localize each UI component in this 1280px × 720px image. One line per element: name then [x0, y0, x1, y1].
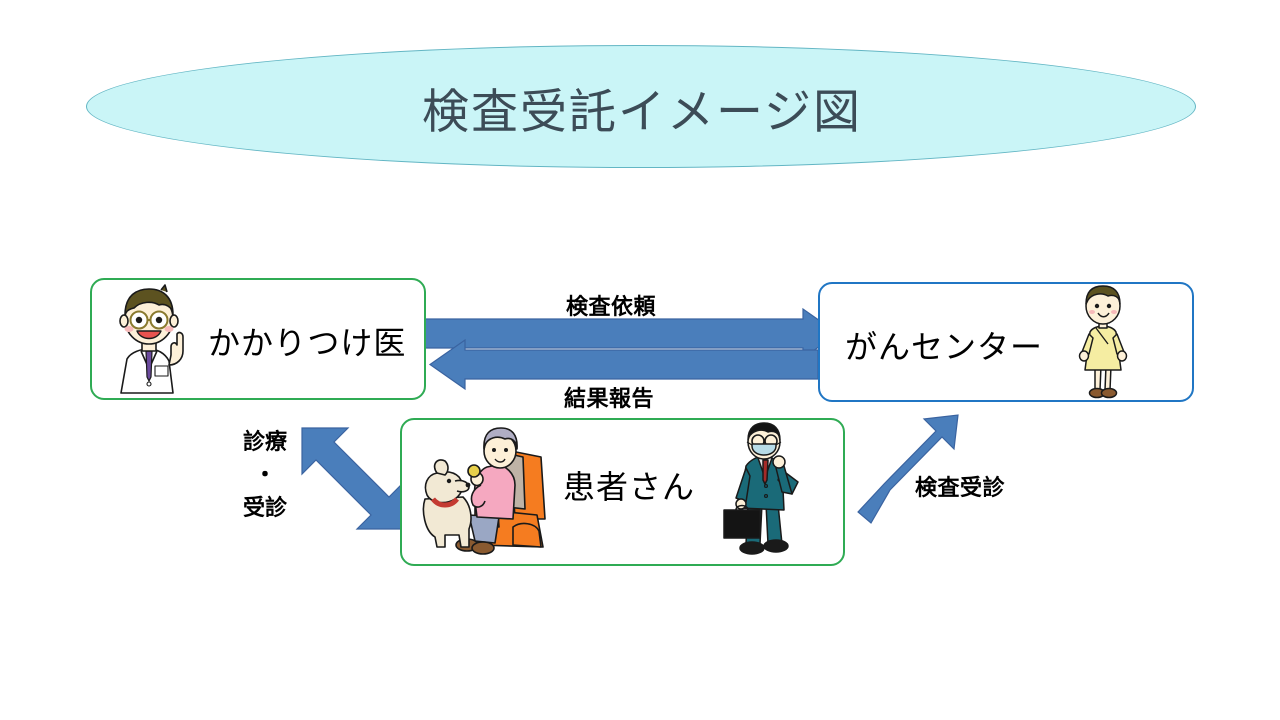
flow-label-test-request: 検査依頼 — [566, 289, 656, 321]
care-line-1: 診療 — [232, 425, 298, 458]
doctor-illustration — [101, 281, 197, 399]
title-ellipse: 検査受託イメージ図 — [86, 45, 1196, 168]
arrow-exam-visit — [858, 415, 958, 523]
page-title: 検査受託イメージ図 — [87, 46, 1197, 169]
flow-label-exam-visit: 検査受診 — [915, 470, 1005, 502]
care-line-3: 受診 — [232, 491, 298, 524]
slide-canvas: 検査受託イメージ図 かかりつけ医 — [0, 0, 1280, 720]
flow-label-care-consult: 診療 ・ 受診 — [232, 425, 298, 524]
businessman-illustration — [716, 422, 816, 562]
node-label-patients: 患者さん — [563, 462, 695, 508]
elderly-woman-with-dog-illustration — [419, 423, 559, 559]
arrow-care-consult — [302, 428, 403, 529]
patient-in-gown-illustration — [1068, 284, 1138, 402]
node-label-cancer-center: がんセンター — [845, 322, 1043, 368]
care-line-2: ・ — [232, 458, 298, 491]
node-label-family-doctor: かかりつけ医 — [208, 318, 406, 364]
flow-label-result-report: 結果報告 — [564, 381, 654, 413]
